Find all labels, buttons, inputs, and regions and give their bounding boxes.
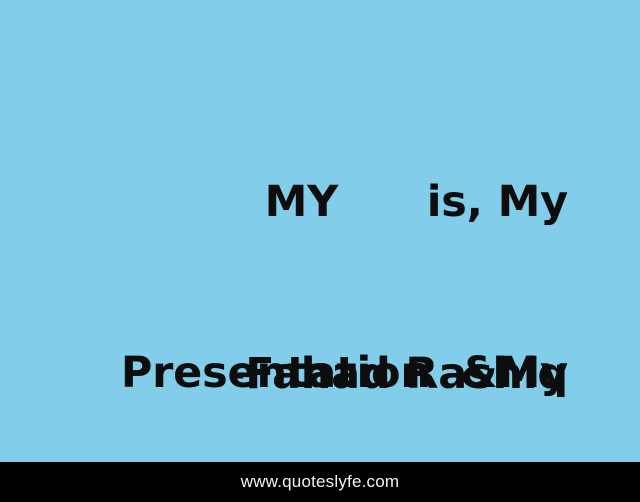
quote-text: MY is, My Presentation &My Attitu e is, … (0, 60, 568, 502)
footer-bar: www.quoteslyfe.com (0, 462, 640, 502)
footer-website-url: www.quoteslyfe.com (241, 472, 400, 492)
quote-card: MY is, My Presentation &My Attitu e is, … (0, 0, 640, 502)
quote-attribution: -Fahad Rashiq (0, 348, 568, 400)
quote-line-1: MY is, My (0, 174, 568, 231)
